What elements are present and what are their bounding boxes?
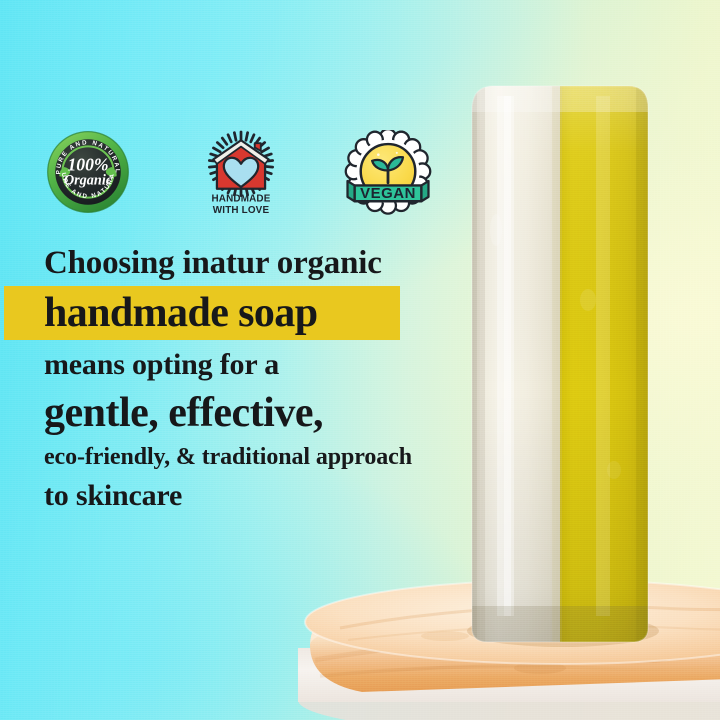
handmade-line2: WITH LOVE [213,205,270,216]
headline-copy-block: Choosing inatur organic handmade soap me… [44,240,444,517]
headline-line-1: Choosing inatur organic [44,240,444,286]
badge-handmade-with-love: HANDMADE WITH LOVE [198,130,284,220]
trust-badge-row: PURE AND NATURAL PURE AND NATURAL 100% O… [46,130,446,222]
organic-percent-text: 100% [67,154,108,174]
badge-vegan: VEGAN [344,130,432,218]
headline-line-3: means opting for a [44,343,444,387]
vegan-banner: VEGAN [348,181,429,202]
headline-line-5: eco-friendly, & traditional approach [44,439,444,475]
badge-100-percent-organic: PURE AND NATURAL PURE AND NATURAL 100% O… [46,130,130,214]
headline-highlight-wrap: handmade soap [24,286,444,340]
vegan-banner-text: VEGAN [360,185,416,202]
headline-line-4: gentle, effective, [44,387,444,439]
headline-line-2: handmade soap [44,286,444,340]
handmade-line1: HANDMADE [212,194,271,205]
organic-word-text: Organic [64,173,113,189]
headline-line-6: to skincare [44,475,444,517]
product-marketing-banner: PURE AND NATURAL PURE AND NATURAL 100% O… [0,0,720,720]
